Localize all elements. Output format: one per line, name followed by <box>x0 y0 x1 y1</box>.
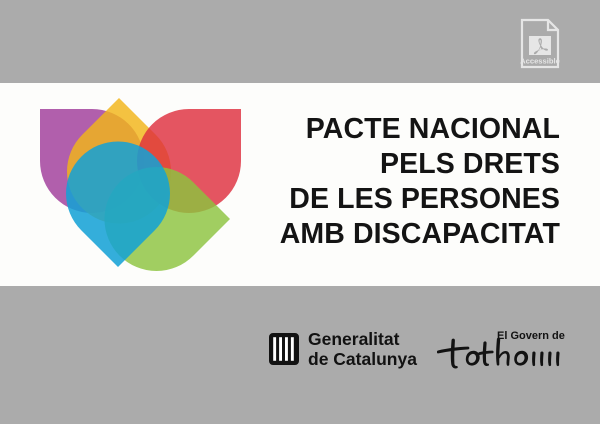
tothom-wordmark-icon <box>437 338 560 369</box>
generalitat-de-catalunya-logo: Generalitat de Catalunya <box>269 329 417 369</box>
accessible-pdf-badge: Accessible <box>512 17 568 70</box>
headline-line-2: PELS DRETS <box>250 147 560 182</box>
generalitat-wordmark: Generalitat de Catalunya <box>308 329 417 369</box>
headline-line-1: PACTE NACIONAL <box>250 112 560 147</box>
tothom-tagline: El Govern de <box>497 330 565 342</box>
generalitat-line-1: Generalitat <box>308 329 417 349</box>
top-gray-band <box>0 0 600 83</box>
poster-canvas: Accessible PACTE N <box>0 0 600 424</box>
pacte-nacional-logo <box>34 95 260 273</box>
poster-headline: PACTE NACIONAL PELS DRETS DE LES PERSONE… <box>250 112 560 252</box>
el-govern-de-tothom-logo: El Govern de <box>437 326 569 374</box>
generalitat-line-2: de Catalunya <box>308 349 417 369</box>
accessible-label: Accessible <box>520 57 560 66</box>
headline-line-4: AMB DISCAPACITAT <box>250 217 560 252</box>
headline-line-3: DE LES PERSONES <box>250 182 560 217</box>
catalan-four-bars-shield-icon <box>269 333 299 365</box>
